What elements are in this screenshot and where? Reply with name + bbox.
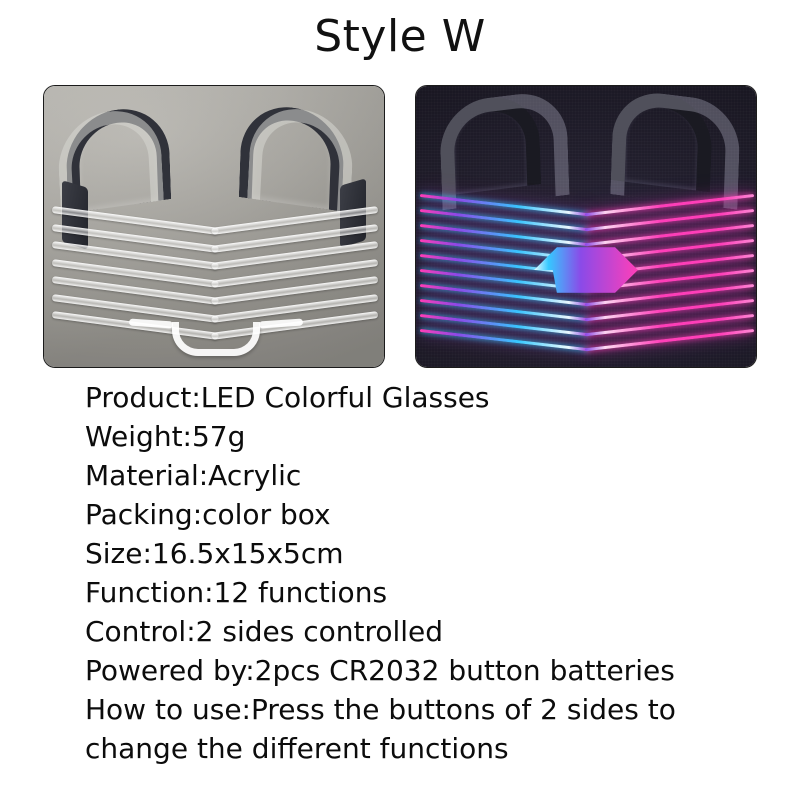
product-gallery <box>0 85 800 368</box>
led-slat-half-left <box>420 329 589 351</box>
product-spec-list: Product:LED Colorful GlassesWeight:57gMa… <box>85 378 785 768</box>
led-slat <box>424 314 750 322</box>
led-slat <box>424 224 750 232</box>
spec-line: Control:2 sides controlled <box>85 612 785 651</box>
shutter-slat <box>54 311 376 319</box>
led-slat <box>424 299 750 307</box>
spec-line: Function:12 functions <box>85 573 785 612</box>
temple-arm-right-lit-icon <box>611 88 713 192</box>
spec-line: Material:Acrylic <box>85 456 785 495</box>
glasses-unlit-illustration <box>44 86 385 368</box>
spec-line: How to use:Press the buttons of 2 sides … <box>85 690 785 729</box>
spec-line: Packing:color box <box>85 495 785 534</box>
spec-line: Weight:57g <box>85 417 785 456</box>
shutter-slat <box>54 294 376 302</box>
spec-line: change the different functions <box>85 729 785 768</box>
page-title: Style W <box>0 8 800 66</box>
nose-bridge-unlit-icon <box>172 322 260 356</box>
product-photo-lit[interactable] <box>415 85 757 368</box>
shutter-slat <box>54 206 376 214</box>
shutter-slat <box>54 241 376 249</box>
led-slat <box>424 209 750 217</box>
shutter-slats-unlit <box>54 206 376 336</box>
shutter-slat <box>54 224 376 232</box>
shutter-slat <box>54 259 376 267</box>
led-slat <box>424 329 750 337</box>
led-slat <box>424 239 750 247</box>
spec-line: Product:LED Colorful Glasses <box>85 378 785 417</box>
temple-arm-right-icon <box>239 101 345 212</box>
led-slat-half-right <box>585 329 754 351</box>
glasses-lit-illustration <box>416 86 757 368</box>
spec-line: Size:16.5x15x5cm <box>85 534 785 573</box>
temple-arm-left-lit-icon <box>439 92 541 196</box>
spec-line: Powered by:2pcs CR2032 button batteries <box>85 651 785 690</box>
led-slat <box>424 194 750 202</box>
shutter-slat <box>54 276 376 284</box>
product-photo-unlit[interactable] <box>43 85 385 368</box>
